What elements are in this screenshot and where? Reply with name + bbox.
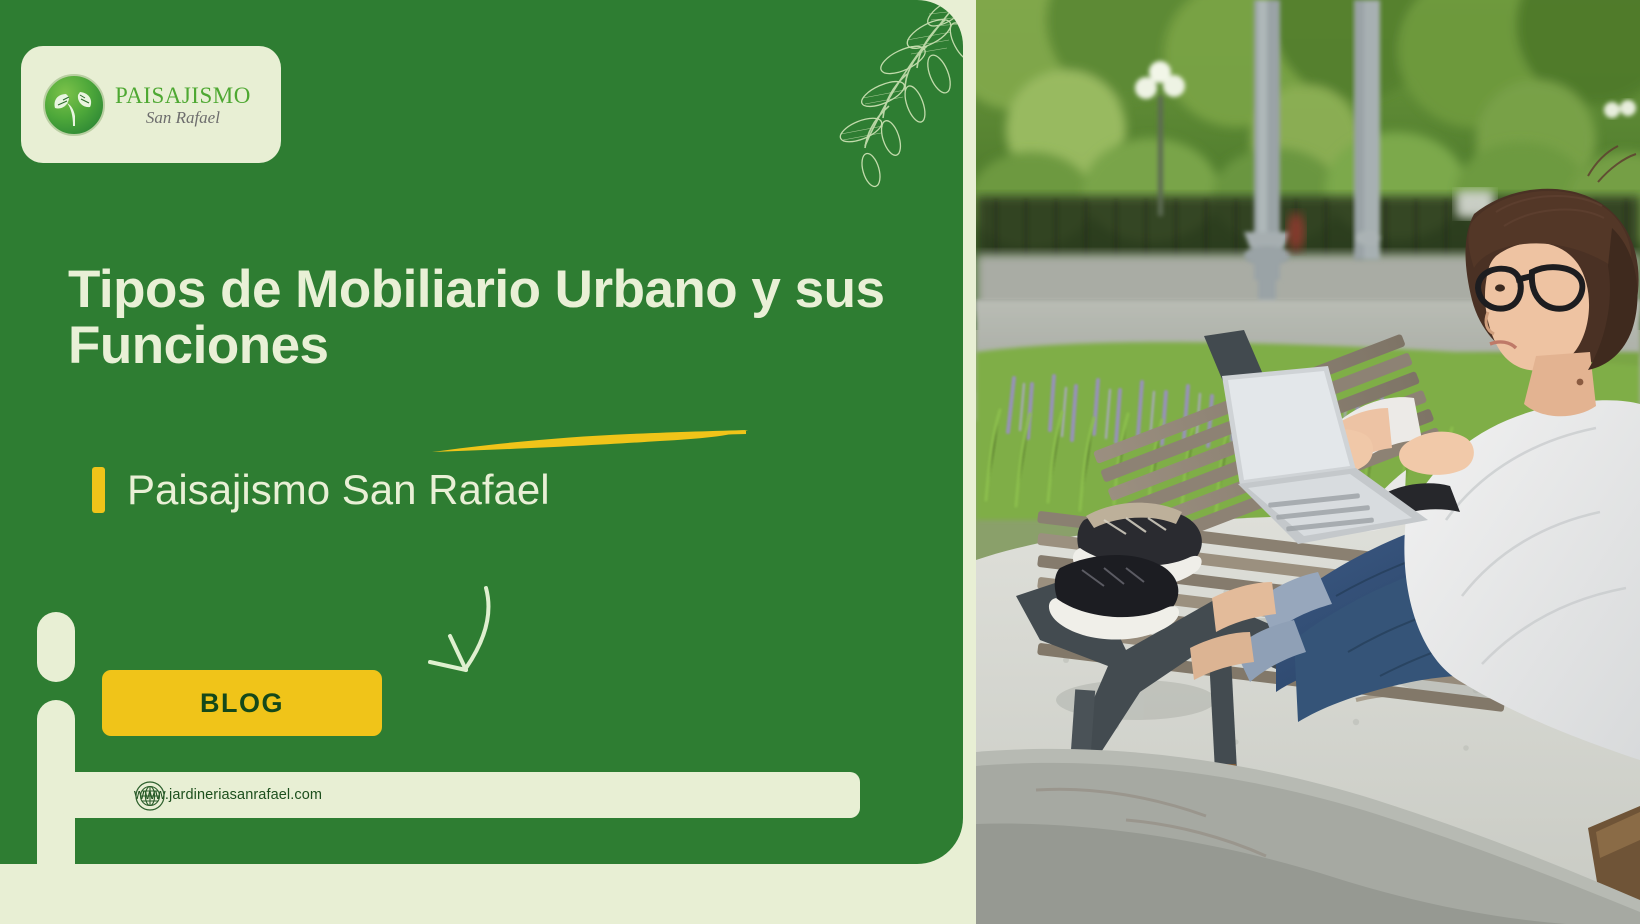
subtitle-row: Paisajismo San Rafael bbox=[92, 466, 550, 514]
website-bar[interactable]: www.jardineriasanrafael.com bbox=[62, 772, 860, 818]
hero-photo bbox=[976, 0, 1640, 924]
plant-leaves-circle-logo-icon bbox=[43, 74, 105, 136]
subtitle-text: Paisajismo San Rafael bbox=[127, 466, 550, 514]
logo-subtitle: San Rafael bbox=[115, 109, 251, 126]
green-panel: PAISAJISMO San Rafael Tipos de Mobiliari… bbox=[0, 0, 963, 864]
logo-card[interactable]: PAISAJISMO San Rafael bbox=[21, 46, 281, 163]
blog-button[interactable]: BLOG bbox=[102, 670, 382, 736]
globe-icon bbox=[134, 780, 166, 812]
leafy-branch-icon bbox=[779, 0, 963, 190]
subtitle-accent-bar bbox=[92, 467, 105, 513]
curved-arrow-icon bbox=[412, 584, 512, 694]
poster-canvas: PAISAJISMO San Rafael Tipos de Mobiliari… bbox=[0, 0, 1640, 924]
page-title: Tipos de Mobiliario Urbano y sus Funcion… bbox=[68, 262, 928, 373]
bracket-dot-decoration bbox=[37, 612, 75, 682]
yellow-brush-underline-icon bbox=[430, 428, 750, 458]
logo-title: PAISAJISMO bbox=[115, 84, 251, 107]
